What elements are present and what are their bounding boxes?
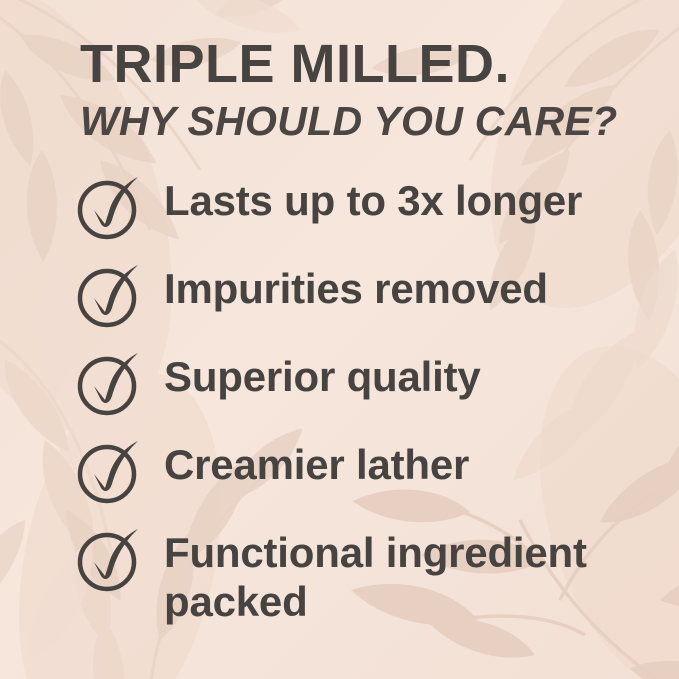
- check-circle-icon: [74, 438, 146, 508]
- list-item-label: Lasts up to 3x longer: [146, 170, 664, 225]
- check-circle-icon: [74, 174, 146, 244]
- page-subtitle: WHY SHOULD YOU CARE?: [80, 98, 640, 144]
- check-circle-icon: [74, 262, 146, 332]
- list-item: Functional ingredient packed: [74, 522, 664, 626]
- list-item-label: Creamier lather: [146, 434, 664, 489]
- list-item-label: Superior quality: [146, 346, 664, 401]
- headline-block: TRIPLE MILLED. WHY SHOULD YOU CARE?: [80, 34, 640, 144]
- page-title: TRIPLE MILLED.: [80, 34, 640, 94]
- list-item: Impurities removed: [74, 258, 664, 345]
- list-item: Superior quality: [74, 346, 664, 433]
- list-item-label: Functional ingredient packed: [146, 522, 664, 626]
- list-item: Creamier lather: [74, 434, 664, 521]
- benefits-list: Lasts up to 3x longer Impurities removed: [74, 170, 664, 627]
- list-item-label: Impurities removed: [146, 258, 664, 313]
- check-circle-icon: [74, 350, 146, 420]
- list-item: Lasts up to 3x longer: [74, 170, 664, 257]
- poster-content: TRIPLE MILLED. WHY SHOULD YOU CARE? Last…: [0, 0, 679, 679]
- promo-poster: TRIPLE MILLED. WHY SHOULD YOU CARE? Last…: [0, 0, 679, 679]
- check-circle-icon: [74, 526, 146, 596]
